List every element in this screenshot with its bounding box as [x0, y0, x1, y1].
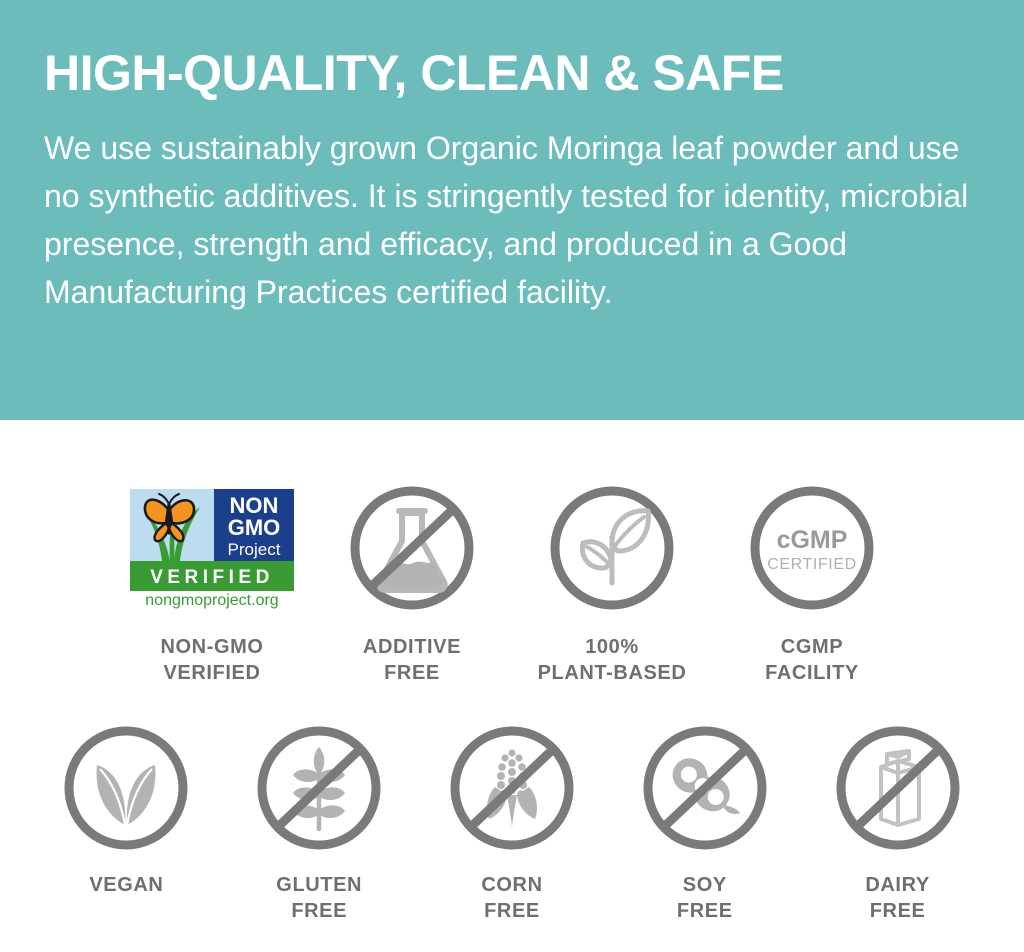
badge-plant-based[interactable]: 100% PLANT-BASED	[512, 478, 712, 686]
flask-no-slash-icon	[345, 478, 479, 618]
badge-label: CORN FREE	[481, 872, 542, 924]
badge-vegan[interactable]: VEGAN	[30, 718, 223, 898]
cgmp-certified-circle-icon: cGMP CERTIFIED	[745, 478, 879, 618]
badge-label: VEGAN	[89, 872, 163, 898]
badge-label: NON-GMO VERIFIED	[160, 634, 263, 686]
badge-soy-free[interactable]: SOY FREE	[608, 718, 801, 924]
hero-description: We use sustainably grown Organic Moringa…	[44, 124, 980, 316]
seal-text-gmo: GMO	[228, 515, 281, 540]
soy-pod-no-slash-icon	[638, 718, 772, 858]
seal-text-project: Project	[228, 540, 281, 559]
cgmp-seal-line2: CERTIFIED	[767, 556, 857, 573]
badge-cgmp-facility[interactable]: cGMP CERTIFIED CGMP FACILITY	[712, 478, 912, 686]
page-title: HIGH-QUALITY, CLEAN & SAFE	[44, 44, 980, 102]
badge-label: DAIRY FREE	[865, 872, 929, 924]
badge-row-2: VEGAN	[0, 686, 1024, 924]
badge-label: CGMP FACILITY	[765, 634, 859, 686]
hero-banner: HIGH-QUALITY, CLEAN & SAFE We use sustai…	[0, 0, 1024, 420]
badge-label: GLUTEN FREE	[276, 872, 362, 924]
badge-row-1: NON GMO Project VERIFIED nongmoproject.o…	[0, 420, 1024, 686]
cgmp-seal-line1: cGMP	[777, 526, 848, 554]
badge-label: SOY FREE	[677, 872, 733, 924]
seal-text-verified: VERIFIED	[150, 567, 274, 588]
corn-no-slash-icon	[445, 718, 579, 858]
certification-badges: NON GMO Project VERIFIED nongmoproject.o…	[0, 420, 1024, 924]
milk-carton-no-slash-icon	[831, 718, 965, 858]
badge-additive-free[interactable]: ADDITIVE FREE	[312, 478, 512, 686]
badge-non-gmo-verified[interactable]: NON GMO Project VERIFIED nongmoproject.o…	[112, 478, 312, 686]
badge-corn-free[interactable]: CORN FREE	[416, 718, 609, 924]
sprout-leaf-icon	[545, 478, 679, 618]
badge-label: 100% PLANT-BASED	[538, 634, 687, 686]
badge-dairy-free[interactable]: DAIRY FREE	[801, 718, 994, 924]
badge-label: ADDITIVE FREE	[363, 634, 461, 686]
seal-text-url: nongmoproject.org	[145, 592, 278, 609]
non-gmo-project-verified-seal: NON GMO Project VERIFIED nongmoproject.o…	[126, 478, 298, 618]
vegan-leaves-icon	[59, 718, 193, 858]
wheat-no-slash-icon	[252, 718, 386, 858]
badge-gluten-free[interactable]: GLUTEN FREE	[223, 718, 416, 924]
